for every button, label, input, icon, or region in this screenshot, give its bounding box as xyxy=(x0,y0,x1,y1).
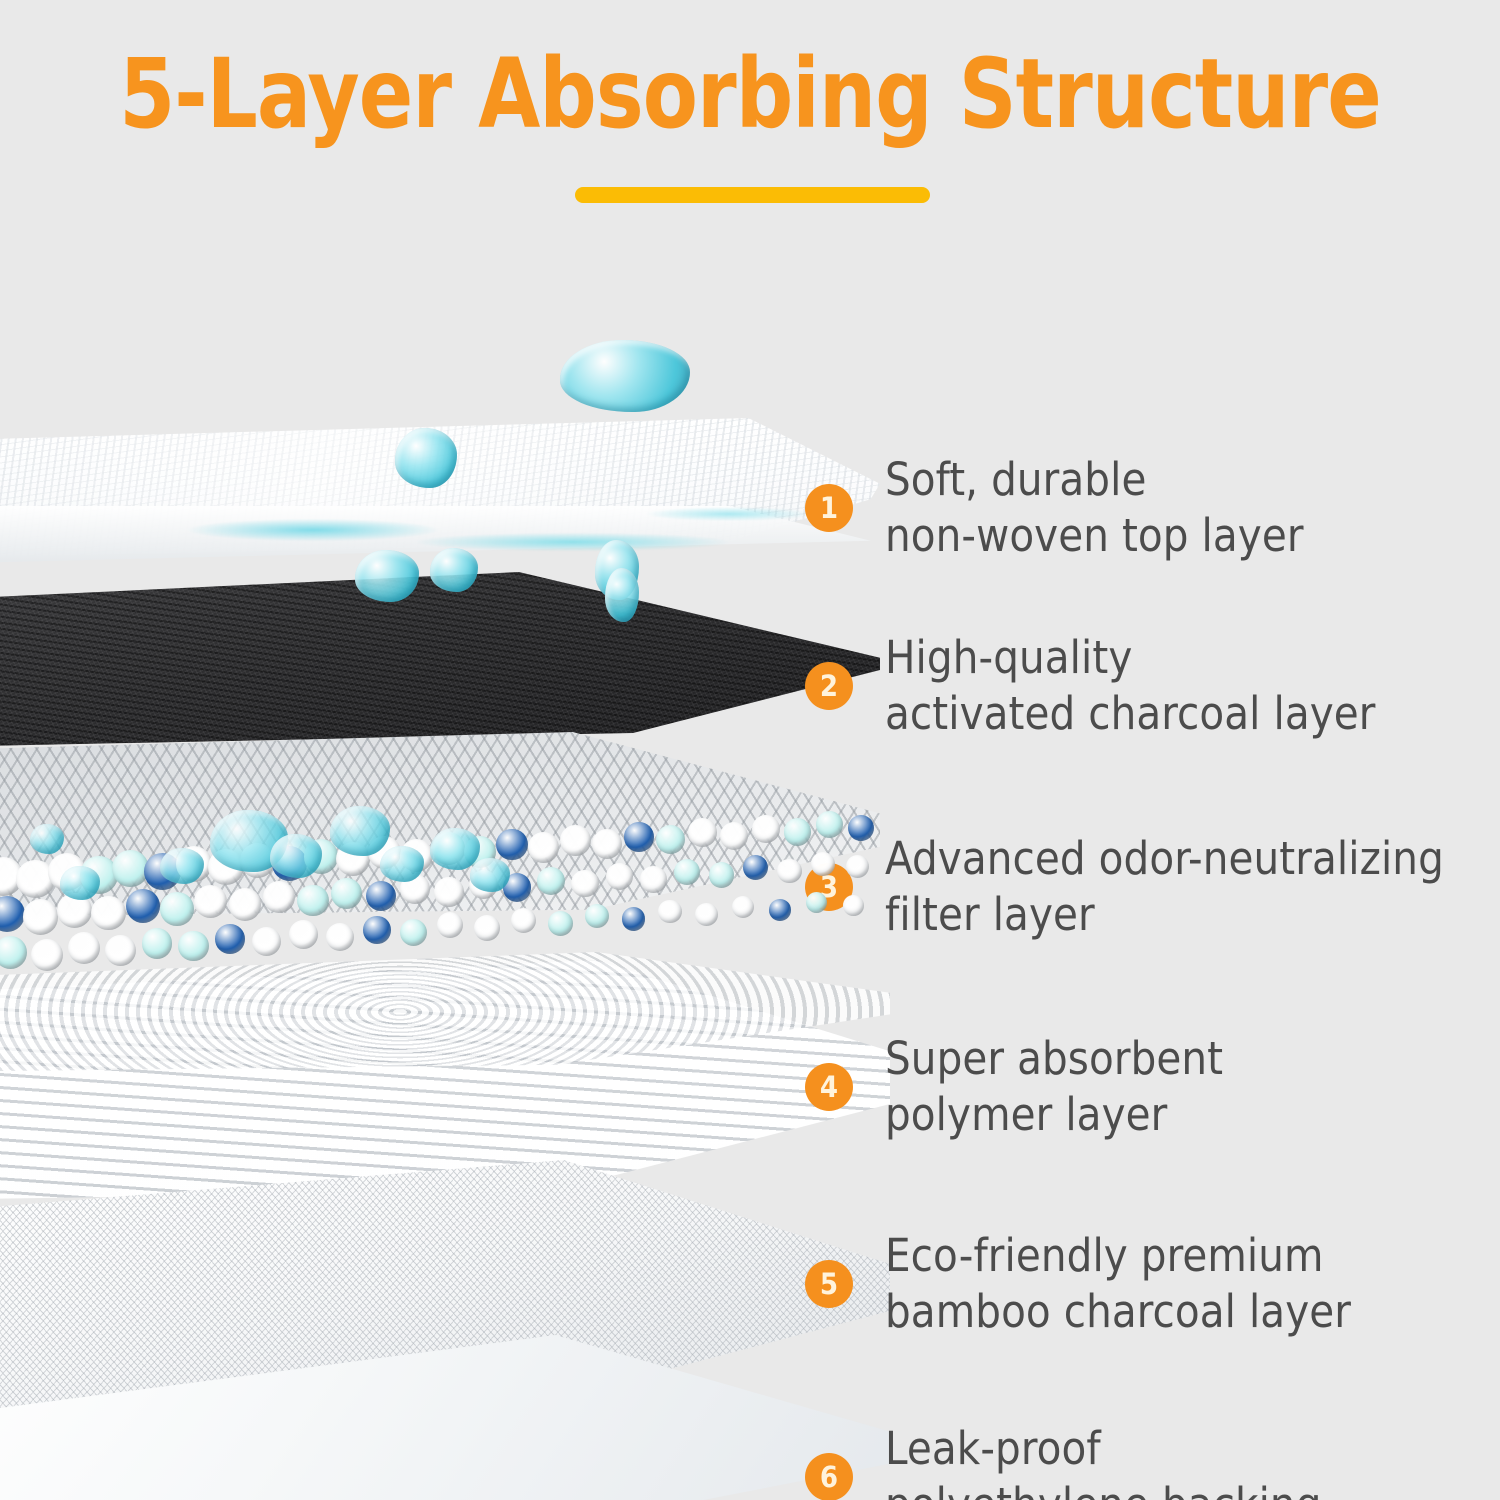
polymer-bead xyxy=(91,896,126,931)
water-droplet xyxy=(60,866,100,900)
water-droplet xyxy=(30,824,64,854)
callout-item-4[interactable]: 4 Super absorbent polymer layer xyxy=(805,1031,1223,1144)
polymer-bead xyxy=(23,899,59,935)
polymer-bead xyxy=(585,904,609,928)
polymer-bead xyxy=(178,931,208,961)
callout-list: 1 Soft, durable non-woven top layer 2 Hi… xyxy=(0,0,1500,1500)
polymer-bead xyxy=(606,863,633,890)
callout-item-6[interactable]: 6 Leak-proof polyethylene backing xyxy=(805,1421,1322,1500)
callout-item-5[interactable]: 5 Eco-friendly premium bamboo charcoal l… xyxy=(805,1228,1351,1341)
water-droplet xyxy=(330,806,390,856)
water-droplet xyxy=(380,846,424,882)
callout-label-2: High-quality activated charcoal layer xyxy=(885,630,1376,743)
polymer-bead xyxy=(784,818,811,845)
polymer-bead xyxy=(752,815,780,843)
polymer-bead xyxy=(640,866,667,893)
polymer-bead xyxy=(496,829,528,861)
polymer-bead xyxy=(400,919,427,946)
polymer-bead xyxy=(160,892,194,926)
polymer-bead xyxy=(622,907,646,931)
water-droplet xyxy=(560,340,690,412)
callout-badge-4: 4 xyxy=(805,1063,853,1111)
polymer-bead xyxy=(142,928,173,959)
water-droplet xyxy=(355,550,419,602)
polymer-bead xyxy=(843,895,864,916)
polymer-bead xyxy=(434,877,464,907)
polymer-bead xyxy=(215,924,245,954)
polymer-bead xyxy=(688,818,717,847)
callout-badge-6: 6 xyxy=(805,1453,853,1500)
water-droplet xyxy=(605,568,639,622)
callout-item-1[interactable]: 1 Soft, durable non-woven top layer xyxy=(805,452,1304,565)
water-droplet xyxy=(430,548,478,592)
water-droplet xyxy=(160,848,204,884)
polymer-bead xyxy=(592,829,622,859)
polymer-bead xyxy=(624,822,654,852)
polymer-bead xyxy=(560,825,591,856)
callout-item-3[interactable]: 3 Advanced odor-neutralizing filter laye… xyxy=(805,831,1444,944)
infographic-root: 5-Layer Absorbing Structure 1 Soft, dura… xyxy=(0,0,1500,1500)
polymer-bead xyxy=(811,852,835,876)
polymer-bead xyxy=(363,916,391,944)
callout-badge-1: 1 xyxy=(805,484,853,532)
callout-label-4: Super absorbent polymer layer xyxy=(885,1031,1223,1144)
callout-badge-2: 2 xyxy=(805,662,853,710)
polymer-bead xyxy=(777,859,802,884)
polymer-bead xyxy=(548,911,573,936)
polymer-bead xyxy=(695,903,718,926)
water-droplet xyxy=(270,834,322,878)
polymer-bead xyxy=(297,885,329,917)
polymer-bead xyxy=(126,889,160,923)
callout-label-1: Soft, durable non-woven top layer xyxy=(885,452,1304,565)
polymer-bead xyxy=(229,888,262,921)
polymer-bead xyxy=(105,935,136,966)
water-droplet xyxy=(430,828,480,870)
water-droplet xyxy=(395,428,457,488)
callout-label-6: Leak-proof polyethylene backing xyxy=(885,1421,1322,1500)
callout-label-5: Eco-friendly premium bamboo charcoal lay… xyxy=(885,1228,1351,1341)
polymer-bead xyxy=(709,862,735,888)
callout-label-3: Advanced odor-neutralizing filter layer xyxy=(885,831,1444,944)
polymer-bead xyxy=(289,920,318,949)
polymer-bead xyxy=(658,900,681,923)
polymer-bead xyxy=(769,899,791,921)
polymer-bead xyxy=(537,867,565,895)
polymer-bead xyxy=(571,870,599,898)
polymer-bead xyxy=(474,915,500,941)
polymer-bead xyxy=(68,932,100,964)
callout-badge-5: 5 xyxy=(805,1260,853,1308)
callout-item-2[interactable]: 2 High-quality activated charcoal layer xyxy=(805,630,1376,743)
polymer-bead xyxy=(331,878,362,909)
water-droplet xyxy=(470,858,510,892)
